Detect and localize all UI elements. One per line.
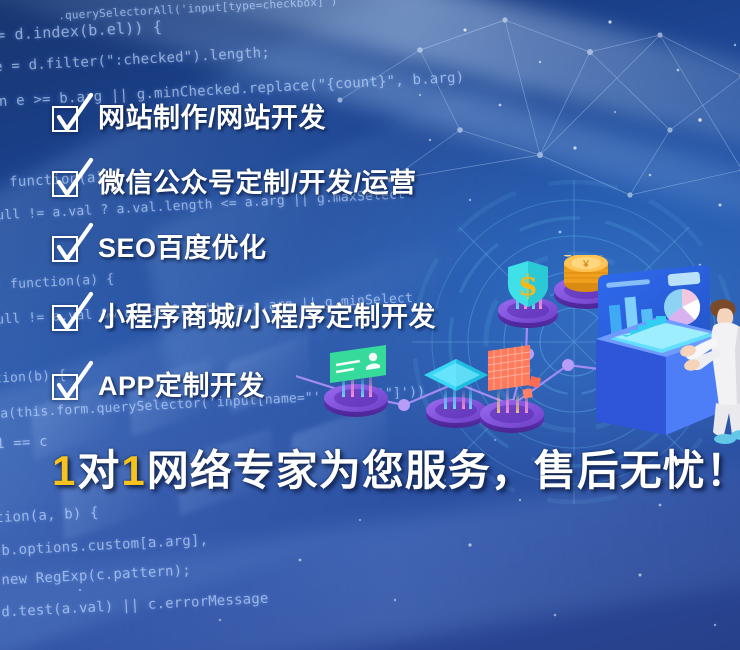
promo-headline: 1 对 1 网络专家为您服务，售后无忧！ [50,450,740,492]
feature-label: SEO百度优化 [98,235,267,262]
checkbox-checked-icon[interactable] [52,234,80,262]
feature-item-1[interactable]: 微信公众号定制/开发/运营 [52,161,417,205]
checkbox-checked-icon[interactable] [52,104,80,132]
id-card-icon [330,345,386,383]
headline-number-second: 1 [119,450,146,492]
feature-label: 微信公众号定制/开发/运营 [98,170,417,197]
pie-chart [664,289,700,325]
diamond-cube-icon [424,359,488,391]
promo-banner: .querySelectorAll('input[type=checkbox]'… [0,0,740,650]
feature-label: 网站制作/网站开发 [98,105,326,132]
feature-item-3[interactable]: 小程序商城/小程序定制开发 [52,295,436,339]
headline-number-first: 1 [50,450,77,492]
checkbox-checked-icon[interactable] [52,372,80,400]
checkbox-checked-icon[interactable] [52,303,80,331]
svg-text:$: $ [518,269,537,302]
podium-id-card [324,345,388,417]
dashboard-console-icon [596,265,740,444]
feature-item-2[interactable]: SEO百度优化 [52,226,267,270]
podium-shield: $ [498,261,558,328]
console-cabinet [596,316,728,435]
feature-label: 小程序商城/小程序定制开发 [98,304,436,331]
svg-text:￥: ￥ [581,259,590,270]
feature-item-4[interactable]: APP定制开发 [52,364,265,408]
isometric-data-analyst-illustration: $ ￥ [296,255,740,465]
feature-label: APP定制开发 [98,373,265,400]
headline-word: 对 [77,450,119,492]
headline-rest: 网络专家为您服务，售后无忧！ [147,450,740,492]
checkbox-checked-icon[interactable] [52,169,80,197]
feature-item-0[interactable]: 网站制作/网站开发 [52,96,326,140]
